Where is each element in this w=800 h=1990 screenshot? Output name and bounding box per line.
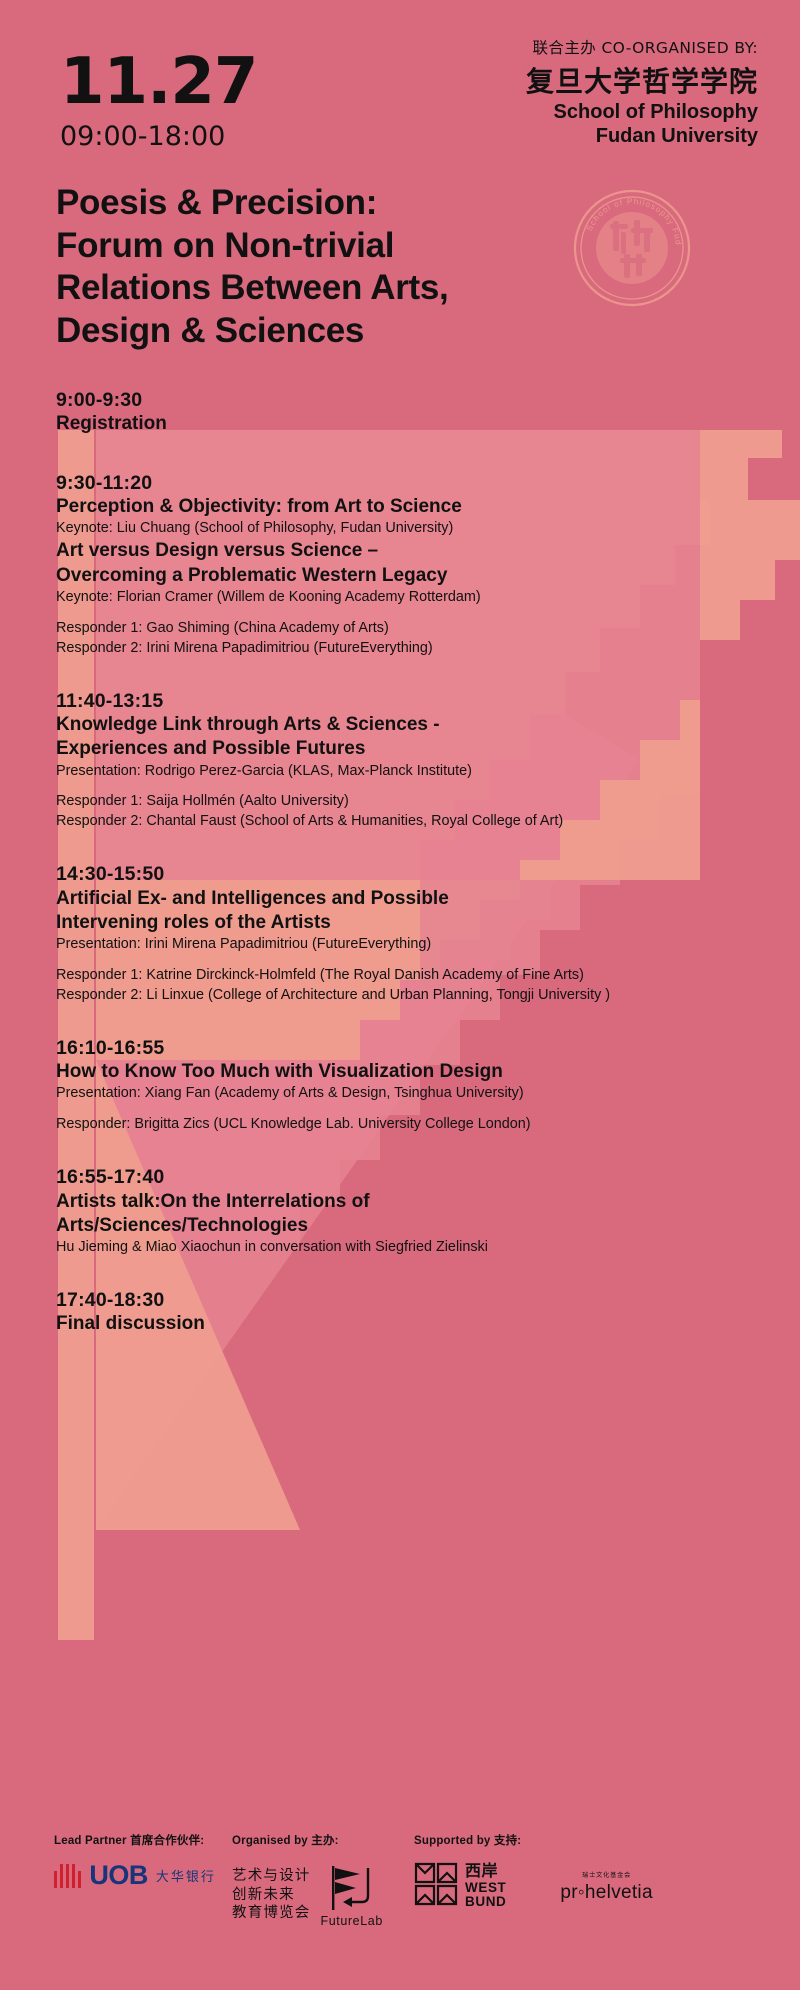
schedule-session: 14:30-15:50Artificial Ex- and Intelligen…	[56, 862, 756, 1006]
session-inner-gap	[56, 608, 756, 619]
session-speaker-line: Presentation: Xiang Fan (Academy of Arts…	[56, 1084, 756, 1104]
session-time: 14:30-15:50	[56, 862, 756, 886]
organised-by-caption: Organised by 主办:	[232, 1832, 383, 1848]
supported-by-caption: Supported by 支持:	[414, 1832, 653, 1848]
schedule-session: 9:30-11:20Perception & Objectivity: from…	[56, 471, 756, 659]
poster-header: 11.27 09:00-18:00 联合主办 CO-ORGANISED BY: …	[0, 0, 800, 210]
lead-partner-block: Lead Partner 首席合作伙伴: UOB 大华银行	[54, 1832, 216, 1889]
session-time: 17:40-18:30	[56, 1288, 756, 1312]
session-speaker-line: Hu Jieming & Miao Xiaochun in conversati…	[56, 1238, 756, 1258]
session-responder-line: Responder 1: Saija Hollmén (Aalto Univer…	[56, 792, 756, 812]
session-responder-line: Responder: Brigitta Zics (UCL Knowledge …	[56, 1115, 756, 1135]
schedule-session: 9:00-9:30Registration	[56, 388, 756, 437]
west-bund-logo: 西岸 WEST BUND	[414, 1862, 506, 1911]
session-time: 9:30-11:20	[56, 471, 756, 495]
session-inner-gap	[56, 781, 756, 792]
session-speaker-line: Presentation: Rodrigo Perez-Garcia (KLAS…	[56, 762, 756, 782]
schedule-session: 16:55-17:40Artists talk:On the Interrela…	[56, 1165, 756, 1258]
session-title-line: Artists talk:On the Interrelations of	[56, 1190, 756, 1214]
organiser-name-en-line2: Fudan University	[526, 124, 758, 148]
session-spacer	[56, 832, 756, 862]
session-title-line: Intervening roles of the Artists	[56, 911, 756, 935]
futurelab-logo: 艺术与设计 创新未来 教育博览会 FutureLab	[232, 1862, 383, 1928]
schedule-session: 16:10-16:55How to Know Too Much with Vis…	[56, 1036, 756, 1135]
futurelab-cn-lines: 艺术与设计 创新未来 教育博览会	[232, 1867, 311, 1923]
session-spacer	[56, 1006, 756, 1036]
lead-partner-caption: Lead Partner 首席合作伙伴:	[54, 1832, 216, 1848]
date-block: 11.27 09:00-18:00	[60, 50, 257, 152]
svg-text:學: 學	[656, 275, 665, 287]
uob-bars-icon	[54, 1864, 81, 1888]
session-spacer	[56, 1135, 756, 1165]
event-time-range: 09:00-18:00	[60, 122, 257, 152]
co-organiser-block: 联合主办 CO-ORGANISED BY: 复旦大学哲学学院 School of…	[526, 36, 758, 148]
session-inner-gap	[56, 955, 756, 966]
west-bund-en-line1: WEST	[465, 1881, 506, 1895]
poster-footer: Lead Partner 首席合作伙伴: UOB 大华银行 Organised …	[0, 1822, 800, 1962]
event-poster: 11.27 09:00-18:00 联合主办 CO-ORGANISED BY: …	[0, 0, 800, 1990]
title-line-2: Forum on Non-trivial	[56, 225, 536, 268]
west-bund-cn: 西岸	[465, 1864, 506, 1881]
schedule-session: 17:40-18:30Final discussion	[56, 1288, 756, 1337]
futurelab-cn-line1: 艺术与设计	[232, 1867, 311, 1886]
session-spacer	[56, 1258, 756, 1288]
west-bund-mark-icon	[414, 1862, 458, 1911]
session-spacer	[56, 659, 756, 689]
session-title-line: Artificial Ex- and Intelligences and Pos…	[56, 887, 756, 911]
session-speaker-line: Keynote: Liu Chuang (School of Philosoph…	[56, 519, 756, 539]
session-title-line: Final discussion	[56, 1312, 756, 1336]
supported-by-block: Supported by 支持: 西岸 WEST BUN	[414, 1832, 653, 1911]
session-title-line: Overcoming a Problematic Western Legacy	[56, 564, 756, 588]
session-title-line: Perception & Objectivity: from Art to Sc…	[56, 495, 756, 519]
co-organised-label: 联合主办 CO-ORGANISED BY:	[526, 36, 758, 58]
title-line-4: Design & Sciences	[56, 310, 536, 353]
svg-text:旦: 旦	[618, 284, 627, 295]
session-time: 16:55-17:40	[56, 1165, 756, 1189]
organiser-name-en-line1: School of Philosophy	[526, 100, 758, 124]
schedule-session: 11:40-13:15Knowledge Link through Arts &…	[56, 689, 756, 833]
futurelab-flag-icon	[326, 1862, 378, 1914]
event-date: 11.27	[60, 50, 257, 114]
session-title-line: How to Know Too Much with Visualization …	[56, 1060, 756, 1084]
session-responder-line: Responder 1: Katrine Dirckinck-Holmfeld …	[56, 966, 756, 986]
session-title-line: Experiences and Possible Futures	[56, 737, 756, 761]
session-speaker-line: Presentation: Irini Mirena Papadimitriou…	[56, 935, 756, 955]
session-responder-line: Responder 1: Gao Shiming (China Academy …	[56, 619, 756, 639]
session-inner-gap	[56, 1104, 756, 1115]
west-bund-en-line2: BUND	[465, 1895, 506, 1909]
session-time: 9:00-9:30	[56, 388, 756, 412]
title-line-3: Relations Between Arts,	[56, 267, 536, 310]
session-responder-line: Responder 2: Li Linxue (College of Archi…	[56, 986, 756, 1006]
svg-text:復: 復	[598, 277, 607, 289]
svg-text:大: 大	[638, 283, 647, 295]
futurelab-cn-line3: 教育博览会	[232, 1904, 311, 1923]
futurelab-cn-line2: 创新未来	[232, 1886, 311, 1905]
session-title-line: Art versus Design versus Science –	[56, 539, 756, 563]
title-line-1: Poesis & Precision:	[56, 182, 536, 225]
schedule-list: 9:00-9:30Registration9:30-11:20Perceptio…	[56, 388, 756, 1337]
session-spacer	[56, 437, 756, 471]
prohelvetia-logo: 瑞士文化基金会 pr◦helvetia	[560, 1870, 652, 1904]
session-time: 11:40-13:15	[56, 689, 756, 713]
uob-logo: UOB 大华银行	[54, 1862, 216, 1889]
poster-title: Poesis & Precision: Forum on Non-trivial…	[56, 182, 536, 353]
organised-by-block: Organised by 主办: 艺术与设计 创新未来 教育博览会	[232, 1832, 383, 1928]
session-speaker-line: Keynote: Florian Cramer (Willem de Kooni…	[56, 588, 756, 608]
session-title-line: Knowledge Link through Arts & Sciences -	[56, 713, 756, 737]
session-responder-line: Responder 2: Chantal Faust (School of Ar…	[56, 812, 756, 832]
fudan-seal-logo: School of Philosophy Fudan University 復 …	[572, 188, 692, 308]
prohelvetia-wordmark: pr◦helvetia	[560, 1882, 652, 1904]
uob-wordmark: UOB	[89, 1862, 148, 1889]
prohelvetia-cn: 瑞士文化基金会	[560, 1870, 652, 1879]
session-time: 16:10-16:55	[56, 1036, 756, 1060]
uob-wordmark-cn: 大华银行	[156, 1866, 216, 1885]
session-title-line: Arts/Sciences/Technologies	[56, 1214, 756, 1238]
session-responder-line: Responder 2: Irini Mirena Papadimitriou …	[56, 639, 756, 659]
session-title-line: Registration	[56, 412, 756, 436]
futurelab-wordmark: FutureLab	[321, 1914, 383, 1928]
organiser-name-cn: 复旦大学哲学学院	[526, 66, 758, 98]
